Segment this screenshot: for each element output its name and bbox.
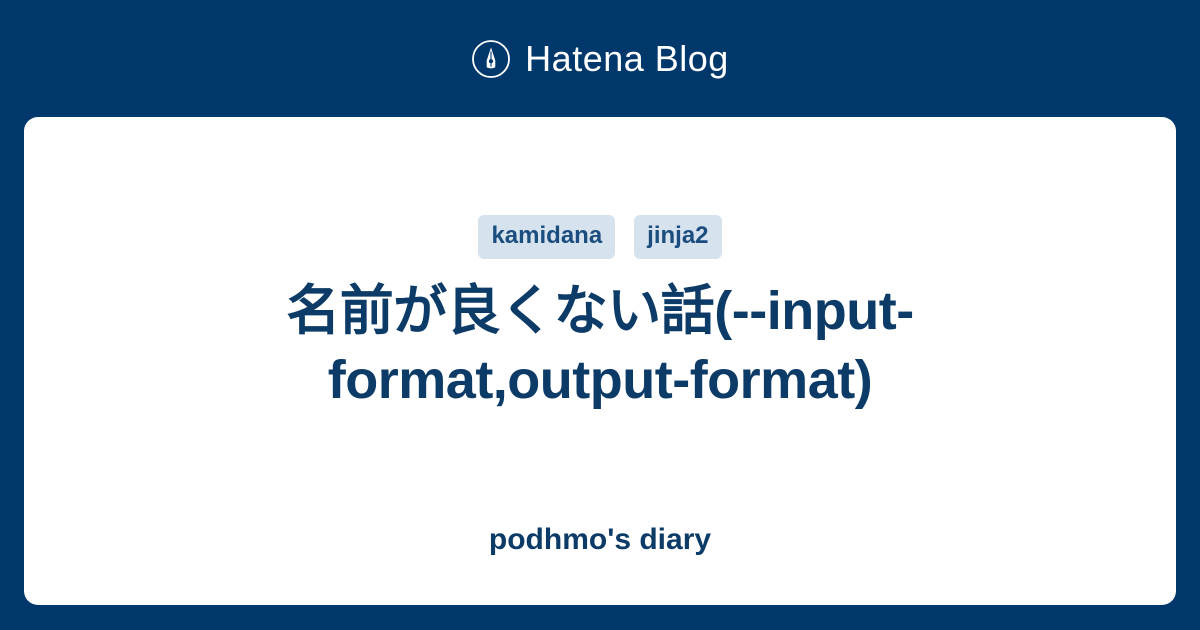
tag-list: kamidana jinja2 [478,215,721,259]
entry-card: kamidana jinja2 名前が良くない話(--input-format,… [24,117,1176,605]
brand-name-text: Hatena Blog [525,41,729,77]
tag-item-jinja2[interactable]: jinja2 [634,215,721,259]
entry-title: 名前が良くない話(--input-format,output-format) [250,277,950,415]
hatena-blog-brand: Hatena Blog [471,0,729,117]
hatena-blog-logo [471,39,511,79]
hatena-blog-og-card: Hatena Blog kamidana jinja2 名前が良くない話(--i… [0,0,1200,630]
tag-item-kamidana[interactable]: kamidana [478,215,615,259]
blog-title[interactable]: podhmo's diary [24,525,1176,555]
fountain-pen-nib-in-circle-icon [471,39,511,79]
